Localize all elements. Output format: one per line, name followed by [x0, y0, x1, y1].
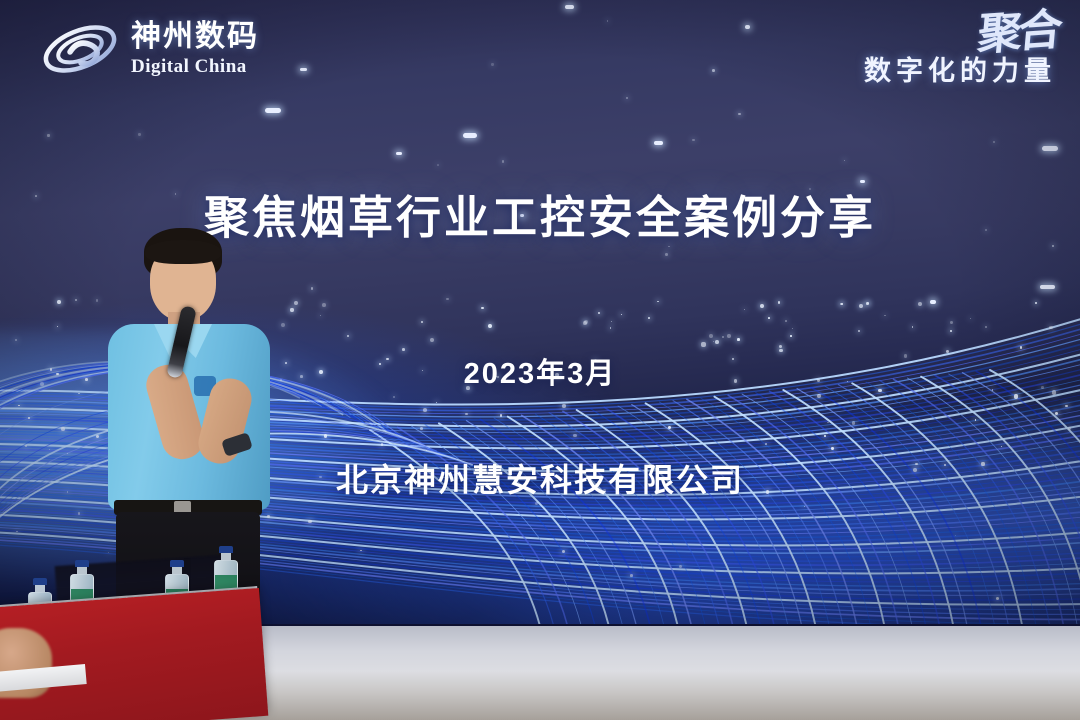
light-particle: [790, 335, 792, 337]
light-particle: [1035, 302, 1036, 303]
light-particle: [502, 160, 504, 162]
event-calligraphy: 聚合: [976, 11, 1060, 55]
light-particle: [648, 317, 650, 319]
light-particle: [300, 68, 307, 71]
light-particle: [665, 253, 668, 256]
light-particle: [290, 308, 293, 311]
light-particle: [817, 394, 821, 398]
conference-stage-photo: 聚焦烟草行业工控安全案例分享 2023年3月 北京神州慧安科技有限公司 神州数码: [0, 0, 1080, 720]
light-particle: [1014, 394, 1018, 398]
light-particle: [765, 443, 767, 445]
light-particle: [712, 69, 715, 72]
light-particle: [610, 327, 611, 328]
light-particle: [598, 312, 600, 314]
light-particle: [324, 434, 327, 437]
light-particle: [841, 303, 843, 305]
light-particle: [265, 108, 281, 113]
light-particle: [583, 321, 587, 325]
light-particle: [701, 342, 705, 346]
light-particle: [573, 434, 577, 438]
light-particle: [138, 133, 140, 135]
light-particle: [481, 307, 483, 309]
light-particle: [426, 450, 427, 451]
light-particle: [955, 535, 956, 536]
light-particle: [779, 345, 782, 348]
light-particle: [322, 303, 326, 307]
light-particle: [1068, 427, 1071, 430]
light-particle: [975, 419, 976, 420]
light-particle: [78, 393, 80, 395]
speaker-fringe: [145, 240, 221, 264]
light-particle: [562, 550, 565, 553]
light-particle: [824, 435, 826, 437]
light-particle: [930, 300, 936, 304]
light-particle: [311, 287, 313, 289]
light-particle: [446, 298, 448, 300]
light-particle: [437, 164, 439, 166]
light-particle: [785, 320, 787, 322]
light-particle: [562, 404, 565, 407]
digital-china-logo: 神州数码 Digital China: [40, 18, 259, 80]
light-particle: [760, 304, 764, 308]
light-particle: [500, 414, 502, 416]
light-particle: [57, 326, 58, 327]
light-particle: [47, 134, 49, 136]
light-particle: [985, 326, 987, 328]
light-particle: [831, 447, 833, 449]
light-particle: [463, 133, 477, 138]
light-particle: [918, 302, 922, 306]
light-particle: [1040, 285, 1055, 289]
brand-name-cn: 神州数码: [131, 22, 259, 52]
light-particle: [709, 334, 713, 338]
light-particle: [1065, 405, 1068, 408]
light-particle: [294, 301, 298, 305]
light-particle: [491, 63, 493, 65]
digital-china-swirl-icon: [40, 18, 120, 80]
light-particle: [844, 160, 845, 161]
light-particle: [950, 330, 952, 332]
light-particle: [1042, 146, 1058, 151]
light-particle: [393, 396, 395, 398]
light-particle: [61, 427, 65, 431]
light-particle: [859, 304, 863, 308]
light-particle: [396, 152, 402, 155]
light-particle: [996, 597, 999, 600]
light-particle: [722, 336, 724, 338]
light-particle: [565, 5, 574, 9]
light-particle: [654, 141, 663, 145]
light-particle: [738, 113, 740, 115]
light-particle: [852, 421, 856, 425]
light-particle: [737, 338, 740, 341]
brand-name-en: Digital China: [131, 57, 259, 76]
light-particle: [423, 408, 427, 412]
event-logo: 聚合 数字化的力量: [864, 14, 1058, 88]
light-particle: [745, 25, 750, 29]
light-particle: [465, 413, 467, 415]
light-particle: [57, 300, 61, 304]
light-particle: [884, 315, 885, 316]
light-particle: [630, 574, 633, 577]
light-particle: [626, 97, 628, 99]
